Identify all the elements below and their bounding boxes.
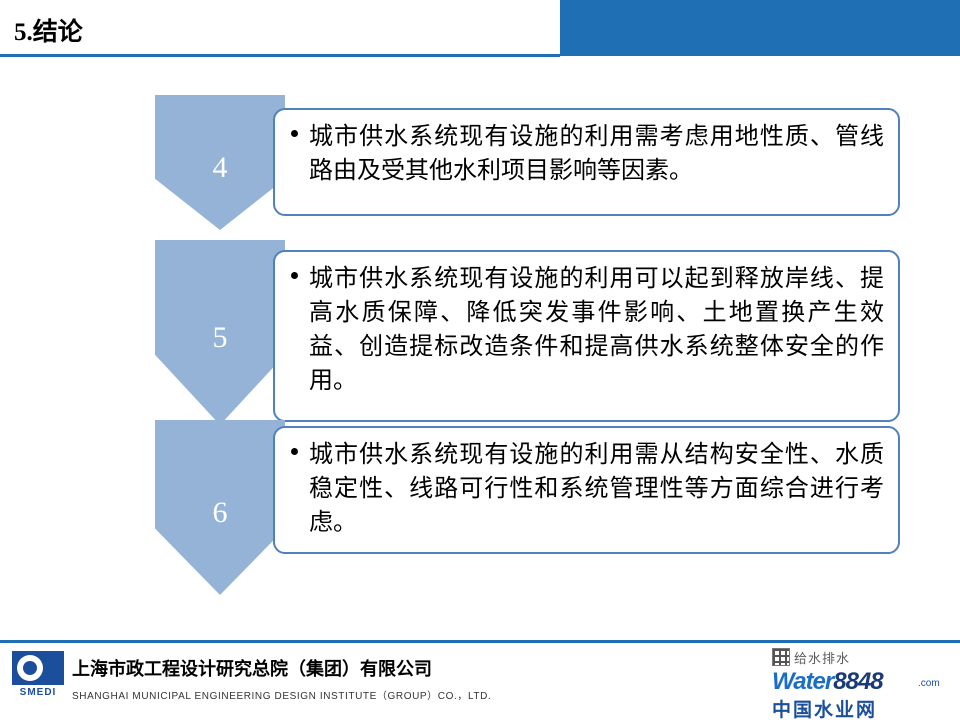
smedi-logo-icon: SMEDI [12, 651, 64, 703]
bullet-icon [291, 448, 298, 455]
watermark: 给水排水 Water8848 .com 中国水业网 [770, 648, 950, 714]
header-accent-block [560, 0, 960, 56]
callout-box-5: 城市供水系统现有设施的利用可以起到释放岸线、提高水质保障、降低突发事件影响、土地… [273, 250, 900, 422]
conclusion-row-2: 5 城市供水系统现有设施的利用可以起到释放岸线、提高水质保障、降低突发事件影响、… [155, 240, 900, 425]
watermark-brand-cn: 中国水业网 [772, 695, 877, 722]
page-title: 5.结论 [14, 12, 83, 48]
watermark-brand-main: Water [772, 668, 833, 695]
watermark-account-name: 给水排水 [794, 648, 850, 667]
chevron-number-5: 5 [213, 323, 228, 353]
conclusion-row-1: 4 城市供水系统现有设施的利用需考虑用地性质、管线路由及受其他水利项目影响等因素… [155, 95, 900, 230]
company-name-cn: 上海市政工程设计研究总院（集团）有限公司 [72, 655, 432, 681]
callout-box-4: 城市供水系统现有设施的利用需考虑用地性质、管线路由及受其他水利项目影响等因素。 [273, 108, 900, 216]
watermark-brand-domain: .com [918, 678, 940, 689]
chevron-number-4: 4 [213, 153, 228, 183]
callout-text-5: 城市供水系统现有设施的利用可以起到释放岸线、提高水质保障、降低突发事件影响、土地… [309, 262, 884, 398]
qr-code-icon [772, 648, 790, 666]
chevron-shape-4: 4 [155, 95, 285, 230]
slide: 5.结论 4 城市供水系统现有设施的利用需考虑用地性质、管线路由及受其他水利项目… [0, 0, 960, 720]
callout-box-6: 城市供水系统现有设施的利用需从结构安全性、水质稳定性、线路可行性和系统管理性等方… [273, 426, 900, 554]
logo-circle-shape [17, 655, 43, 681]
header-divider [0, 54, 560, 57]
bullet-icon [291, 272, 298, 279]
watermark-brand: Water8848 [772, 668, 883, 696]
chevron-shape-5: 5 [155, 240, 285, 425]
bullet-icon [291, 130, 298, 137]
callout-text-4: 城市供水系统现有设施的利用需考虑用地性质、管线路由及受其他水利项目影响等因素。 [309, 120, 884, 188]
company-name-en: SHANGHAI MUNICIPAL ENGINEERING DESIGN IN… [72, 687, 491, 702]
watermark-brand-num: 8848 [833, 668, 882, 695]
chevron-number-6: 6 [213, 498, 228, 528]
logo-mark [12, 651, 64, 685]
chevron-shape-6: 6 [155, 420, 285, 595]
conclusion-row-3: 6 城市供水系统现有设施的利用需从结构安全性、水质稳定性、线路可行性和系统管理性… [155, 420, 900, 595]
logo-wordmark: SMEDI [12, 687, 64, 698]
callout-text-6: 城市供水系统现有设施的利用需从结构安全性、水质稳定性、线路可行性和系统管理性等方… [309, 438, 884, 540]
slide-header: 5.结论 [0, 0, 960, 56]
